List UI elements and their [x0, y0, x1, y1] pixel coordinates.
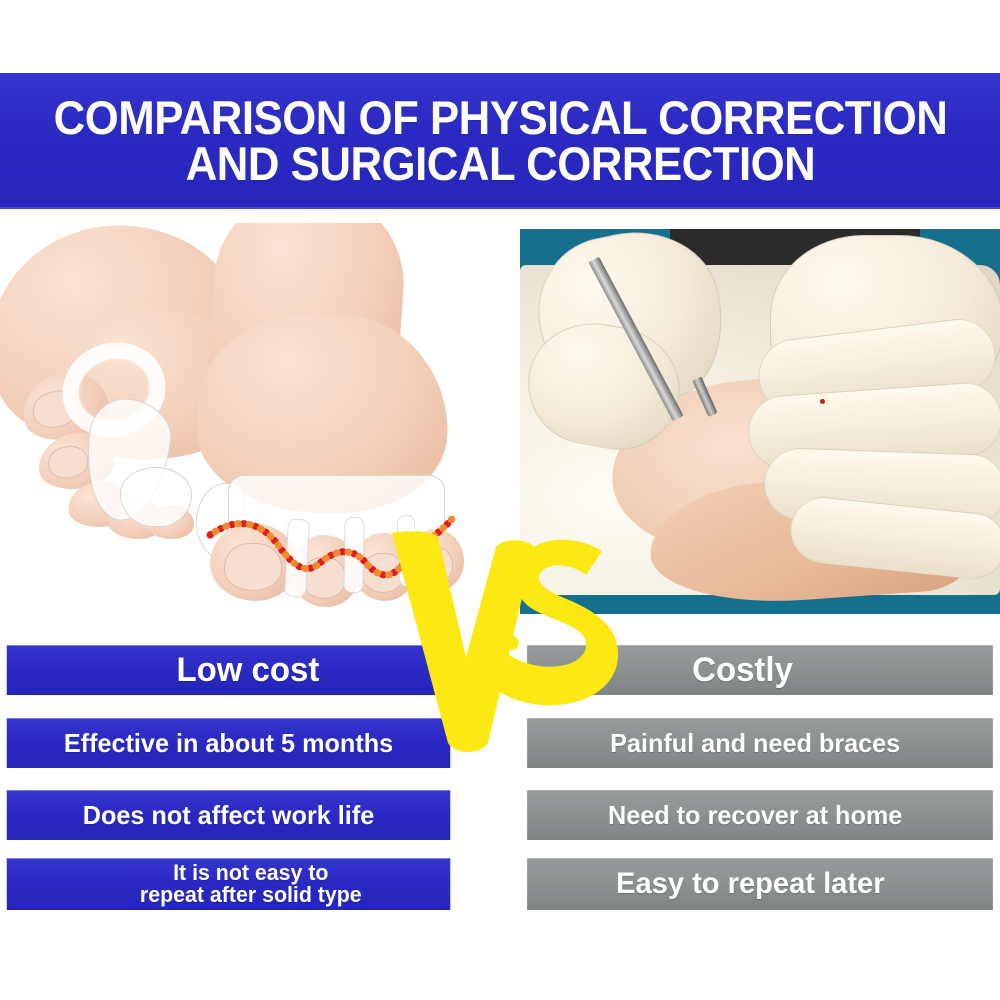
physical-row-4[interactable]: It is not easy to repeat after solid typ…: [7, 858, 450, 910]
page-title: COMPARISON OF PHYSICAL CORRECTION AND SU…: [44, 95, 956, 186]
physical-row-3[interactable]: Does not affect work life: [7, 790, 450, 840]
surgical-row-3[interactable]: Need to recover at home: [527, 790, 993, 840]
infographic-page: COMPARISON OF PHYSICAL CORRECTION AND SU…: [0, 0, 1000, 1000]
surgical-correction-photo: [520, 229, 1000, 614]
surgical-row-1[interactable]: Costly: [527, 645, 993, 695]
surgical-row-4[interactable]: Easy to repeat later: [527, 858, 993, 910]
red-dotted-correction-line: [0, 223, 470, 621]
header-band: COMPARISON OF PHYSICAL CORRECTION AND SU…: [0, 73, 1000, 209]
physical-row-2[interactable]: Effective in about 5 months: [7, 718, 450, 768]
physical-row-1[interactable]: Low cost: [7, 645, 450, 695]
physical-correction-photo: [0, 223, 470, 621]
incision-mark: [820, 399, 825, 404]
surgical-row-2[interactable]: Painful and need braces: [527, 718, 993, 768]
photo-row: [0, 209, 1000, 629]
